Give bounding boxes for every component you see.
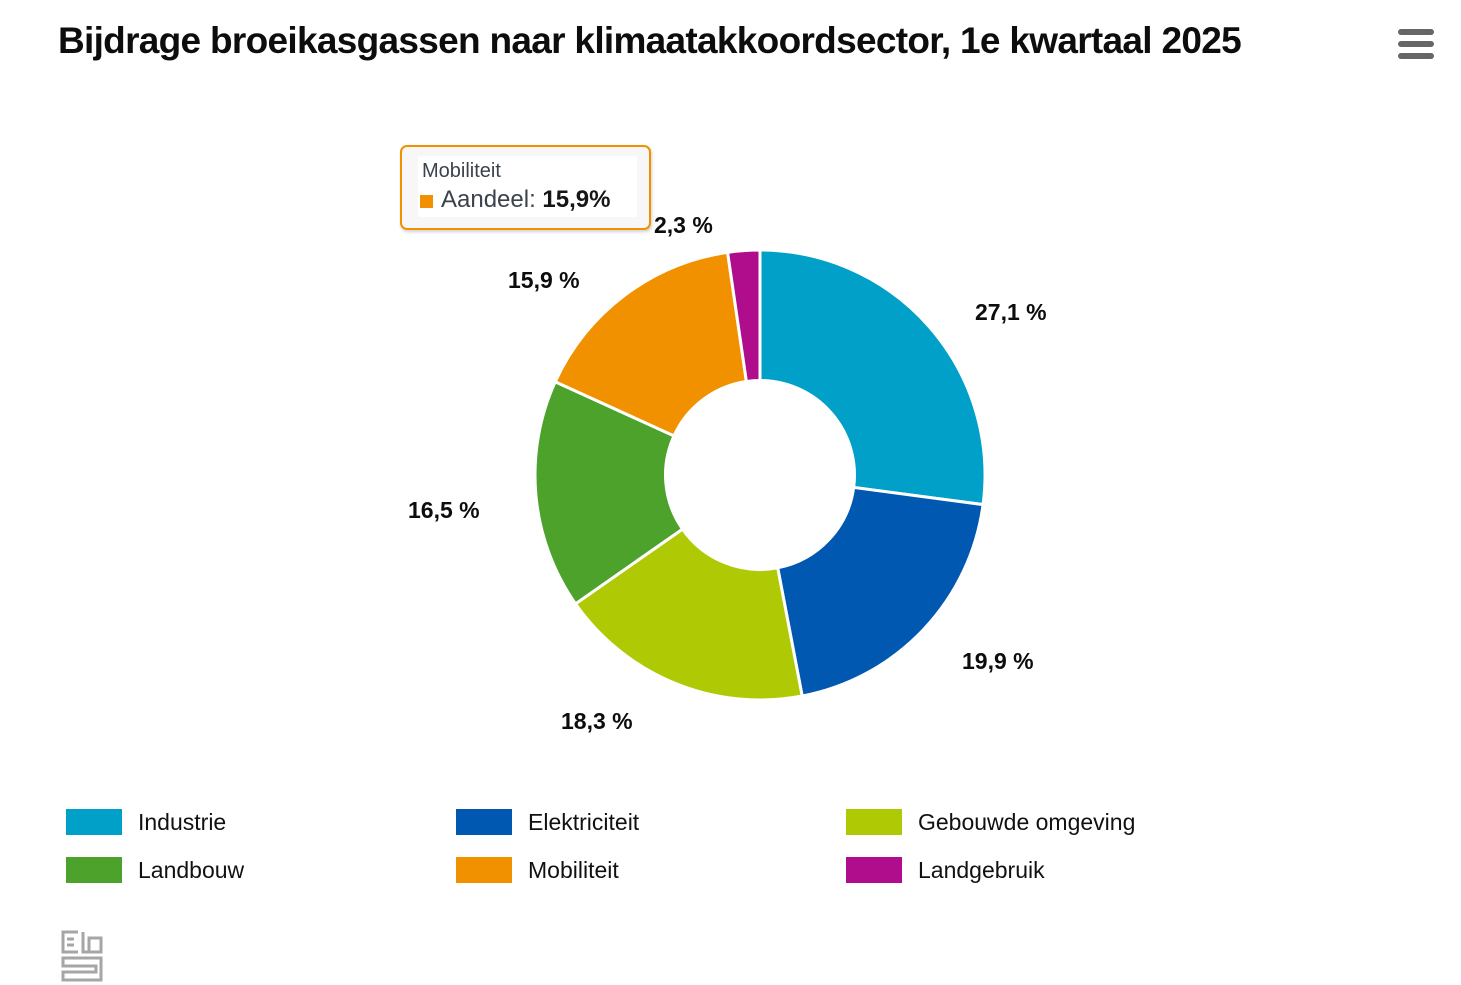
legend-label: Landbouw xyxy=(138,857,244,884)
slice-label-mobiliteit: 15,9 % xyxy=(508,267,580,294)
tooltip-metric: Aandeel: 15,9% xyxy=(441,185,610,215)
tooltip-color-swatch-icon xyxy=(420,195,433,208)
legend-label: Gebouwde omgeving xyxy=(918,809,1135,836)
donut-slice-industrie[interactable] xyxy=(760,250,985,505)
menu-bar-1 xyxy=(1398,29,1434,35)
donut-slice-elektriciteit[interactable] xyxy=(778,487,983,696)
slice-label-elektriciteit: 19,9 % xyxy=(962,648,1034,675)
donut-chart[interactable] xyxy=(535,250,985,700)
legend-swatch-icon xyxy=(66,857,122,883)
legend-item-gebouwde-omgeving[interactable]: Gebouwde omgeving xyxy=(846,798,1236,846)
legend-label: Mobiliteit xyxy=(528,857,619,884)
menu-bar-2 xyxy=(1398,41,1434,47)
legend-swatch-icon xyxy=(456,857,512,883)
page-title: Bijdrage broeikasgassen naar klimaatakko… xyxy=(58,18,1328,64)
chart-legend: IndustrieElektriciteitGebouwde omgevingL… xyxy=(66,798,1246,894)
hamburger-menu-icon[interactable] xyxy=(1393,24,1439,64)
legend-swatch-icon xyxy=(456,809,512,835)
legend-item-elektriciteit[interactable]: Elektriciteit xyxy=(456,798,846,846)
legend-label: Industrie xyxy=(138,809,226,836)
cbs-logo xyxy=(56,928,118,984)
legend-label: Elektriciteit xyxy=(528,809,639,836)
legend-swatch-icon xyxy=(66,809,122,835)
tooltip-metric-value: 15,9% xyxy=(542,186,610,213)
legend-label: Landgebruik xyxy=(918,857,1045,884)
tooltip-series-name: Mobiliteit xyxy=(420,157,635,185)
menu-bar-3 xyxy=(1398,53,1434,59)
slice-label-gebouwde-omgeving: 18,3 % xyxy=(561,708,633,735)
tooltip-inner: Mobiliteit Aandeel: 15,9% xyxy=(418,156,637,217)
cbs-logo-icon xyxy=(56,928,118,984)
tooltip-metric-row: Aandeel: 15,9% xyxy=(420,185,635,215)
legend-swatch-icon xyxy=(846,809,902,835)
slice-label-landgebruik: 2,3 % xyxy=(654,212,713,239)
legend-item-landbouw[interactable]: Landbouw xyxy=(66,846,456,894)
legend-item-mobiliteit[interactable]: Mobiliteit xyxy=(456,846,846,894)
legend-item-industrie[interactable]: Industrie xyxy=(66,798,456,846)
legend-item-landgebruik[interactable]: Landgebruik xyxy=(846,846,1236,894)
donut-svg xyxy=(535,250,985,700)
chart-tooltip: Mobiliteit Aandeel: 15,9% xyxy=(400,145,651,230)
legend-swatch-icon xyxy=(846,857,902,883)
chart-page: Bijdrage broeikasgassen naar klimaatakko… xyxy=(0,0,1461,985)
tooltip-metric-label: Aandeel: xyxy=(441,186,536,213)
slice-label-landbouw: 16,5 % xyxy=(408,497,480,524)
slice-label-industrie: 27,1 % xyxy=(975,299,1047,326)
